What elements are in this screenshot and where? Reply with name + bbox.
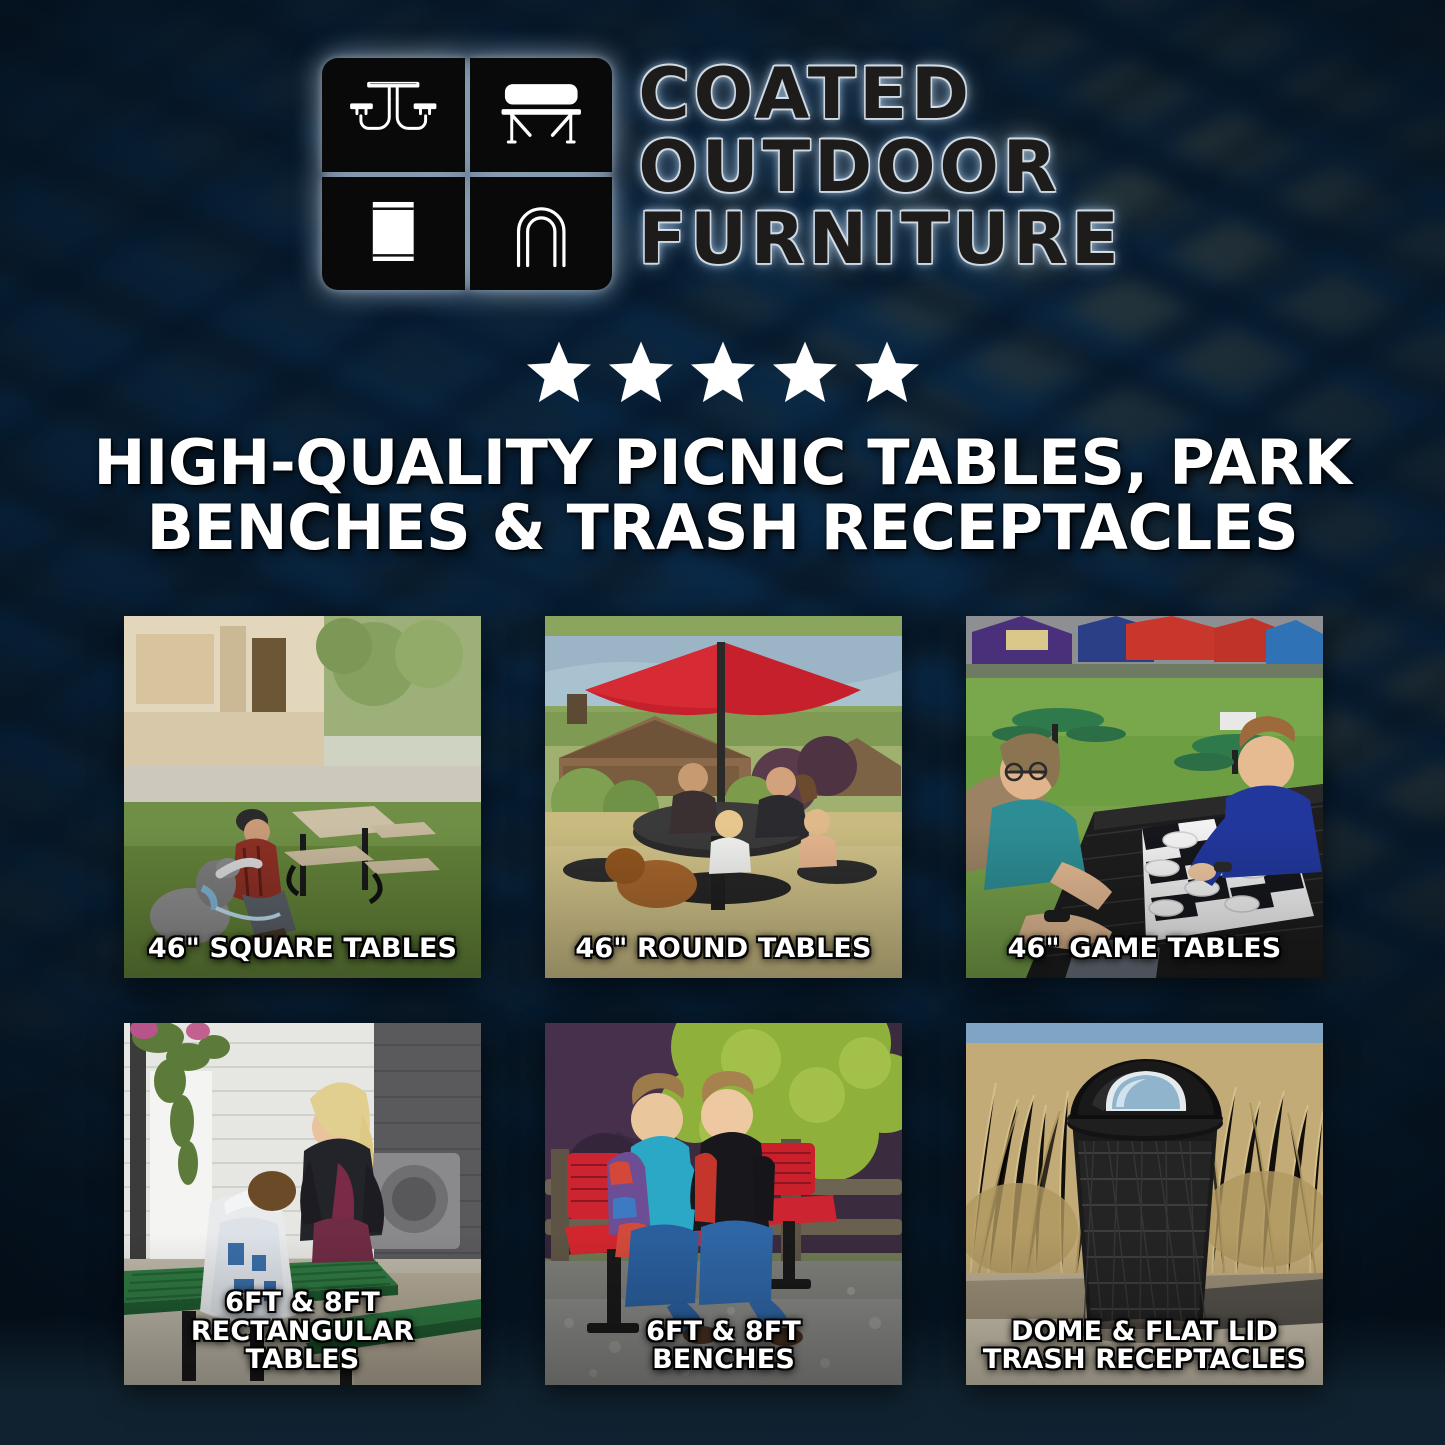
star-icon	[851, 338, 923, 408]
photo-overlay	[545, 616, 902, 978]
product-card-trash-receptacles[interactable]: DOME & FLAT LID TRASH RECEPTACLES	[966, 1023, 1323, 1385]
product-card-square-tables[interactable]: 46" SQUARE TABLES	[124, 616, 481, 978]
product-caption-round-tables: 46" ROUND TABLES	[551, 935, 896, 964]
picnic-table-icon	[322, 58, 465, 172]
headline-line-2: BENCHES & TRASH RECEPTACLES	[60, 495, 1385, 560]
product-card-game-tables[interactable]: 46" GAME TABLES	[966, 616, 1323, 978]
product-card-rectangular-tables[interactable]: 6FT & 8FT RECTANGULAR TABLES	[124, 1023, 481, 1385]
brand-line-3: FURNITURE	[638, 205, 1122, 274]
product-caption-game-tables: 46" GAME TABLES	[972, 935, 1317, 964]
brand-lockup: COATED OUTDOOR FURNITURE	[0, 58, 1445, 290]
caption-line: 46" ROUND TABLES	[551, 935, 896, 964]
product-caption-trash-receptacles: DOME & FLAT LID TRASH RECEPTACLES	[972, 1318, 1317, 1375]
brand-line-1: COATED	[638, 60, 1122, 129]
star-icon	[687, 338, 759, 408]
star-icon	[605, 338, 677, 408]
star-icon	[769, 338, 841, 408]
page-title: HIGH-QUALITY PICNIC TABLES, PARK BENCHES…	[60, 430, 1385, 560]
caption-line: 6FT & 8FT	[130, 1289, 475, 1318]
product-grid: 46" SQUARE TABLES	[124, 616, 1322, 1385]
product-card-round-tables[interactable]: 46" ROUND TABLES	[545, 616, 902, 978]
caption-line: 46" GAME TABLES	[972, 935, 1317, 964]
rating-stars	[0, 338, 1445, 408]
star-icon	[523, 338, 595, 408]
product-caption-benches: 6FT & 8FT BENCHES	[551, 1318, 896, 1375]
product-card-benches[interactable]: 6FT & 8FT BENCHES	[545, 1023, 902, 1385]
bench-table-icon	[470, 58, 613, 172]
caption-line: 6FT & 8FT	[551, 1318, 896, 1347]
product-caption-square-tables: 46" SQUARE TABLES	[130, 935, 475, 964]
photo-overlay	[966, 616, 1323, 978]
brand-wordmark: COATED OUTDOOR FURNITURE	[638, 58, 1122, 274]
caption-line: TRASH RECEPTACLES	[972, 1346, 1317, 1375]
photo-overlay	[124, 616, 481, 978]
caption-line: 46" SQUARE TABLES	[130, 935, 475, 964]
promo-graphic: COATED OUTDOOR FURNITURE HIGH-QUALITY PI…	[0, 0, 1445, 1445]
logo-mark	[322, 58, 612, 290]
caption-line: RECTANGULAR TABLES	[130, 1318, 475, 1375]
caption-line: DOME & FLAT LID	[972, 1318, 1317, 1347]
trash-receptacle-icon	[322, 177, 465, 291]
brand-line-2: OUTDOOR	[638, 133, 1122, 202]
headline-line-1: HIGH-QUALITY PICNIC TABLES, PARK	[60, 430, 1385, 495]
bike-rack-icon	[470, 177, 613, 291]
caption-line: BENCHES	[551, 1346, 896, 1375]
product-caption-rectangular-tables: 6FT & 8FT RECTANGULAR TABLES	[130, 1289, 475, 1375]
